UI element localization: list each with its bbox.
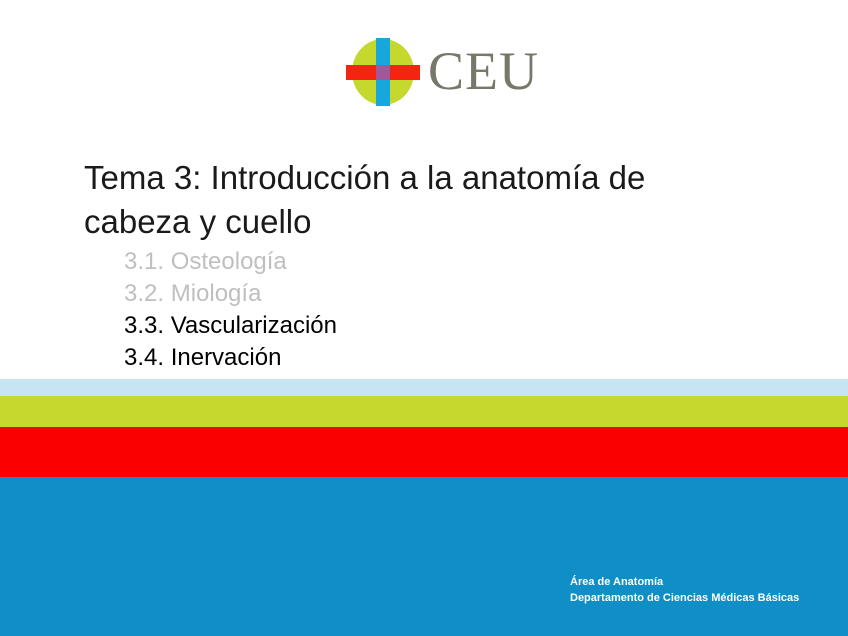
- logo-center-square-shape: [376, 65, 390, 80]
- ceu-logo-mark-icon: [352, 39, 414, 105]
- list-item: 3.1. Osteología: [124, 246, 724, 278]
- ceu-wordmark: CEU: [428, 40, 539, 102]
- band-red: [0, 427, 848, 477]
- slide-canvas: CEU Tema 3: Introducción a la anatomía d…: [0, 0, 848, 636]
- band-green: [0, 396, 848, 427]
- band-light-blue: [0, 379, 848, 396]
- band-blue: [0, 477, 848, 636]
- ceu-logo: CEU: [338, 32, 538, 114]
- list-item: 3.3. Vascularización: [124, 310, 724, 342]
- footer-line-area: Área de Anatomía: [540, 574, 830, 590]
- outline-list: 3.1. Osteología 3.2. Miología 3.3. Vascu…: [124, 246, 724, 374]
- list-item: 3.4. Inervación: [124, 342, 724, 374]
- footer-line-department: Departamento de Ciencias Médicas Básicas: [540, 590, 830, 606]
- footer: Área de Anatomía Departamento de Ciencia…: [540, 574, 830, 606]
- page-title: Tema 3: Introducción a la anatomía de ca…: [84, 156, 744, 244]
- list-item: 3.2. Miología: [124, 278, 724, 310]
